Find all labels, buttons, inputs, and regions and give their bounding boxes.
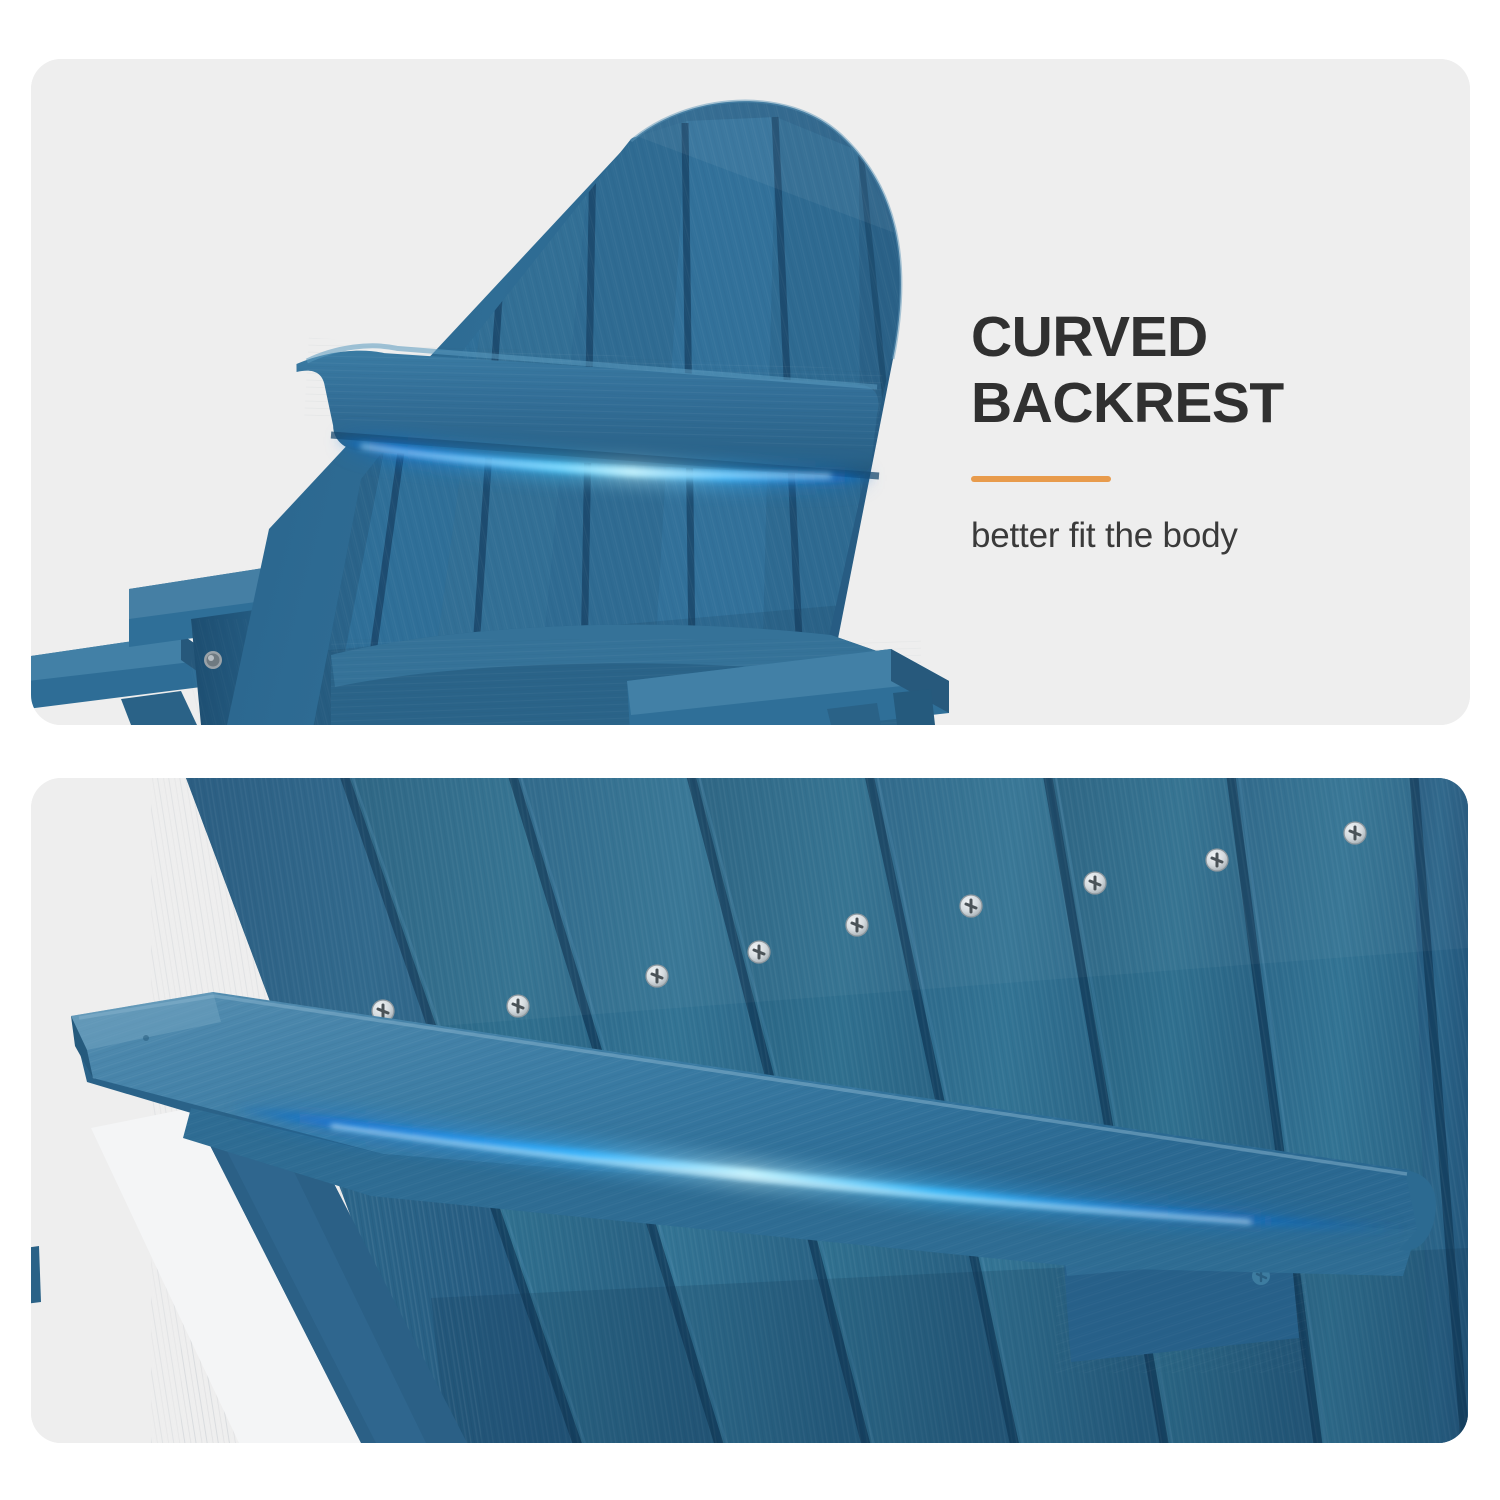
page-root: CURVED BACKREST better fit the body xyxy=(0,0,1500,1500)
screw xyxy=(1206,849,1228,871)
screw xyxy=(507,995,529,1017)
feature-text-curved-backrest: CURVED BACKREST better fit the body xyxy=(971,304,1431,591)
product-image-wide-armrests xyxy=(31,778,1468,1443)
feature-title-curved-backrest: CURVED BACKREST xyxy=(971,304,1431,436)
screw xyxy=(1084,872,1106,894)
feature-panel-wide-armrests: WIDE ARMRESTS for better arm relaxation xyxy=(31,778,1468,1443)
chair-armrest-illustration xyxy=(31,778,1468,1443)
feature-panel-curved-backrest: CURVED BACKREST better fit the body xyxy=(31,59,1470,725)
accent-divider-curved-backrest xyxy=(971,476,1111,482)
screw xyxy=(646,965,668,987)
screw xyxy=(846,914,868,936)
feature-subtitle-curved-backrest: better fit the body xyxy=(971,516,1431,556)
screw xyxy=(960,895,982,917)
screw xyxy=(1344,822,1366,844)
screw xyxy=(748,941,770,963)
